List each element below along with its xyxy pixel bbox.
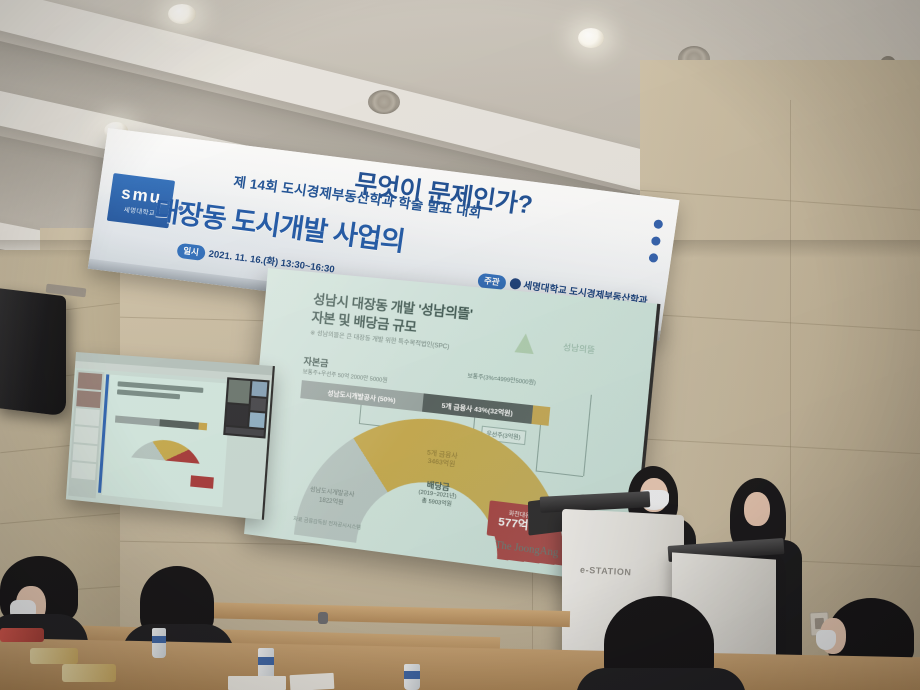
preview-bar-3	[198, 423, 207, 431]
presenter-2-face	[744, 492, 770, 526]
ceiling-vent-icon	[368, 90, 400, 114]
downlight-icon	[168, 4, 196, 24]
slide-thumbnail[interactable]	[73, 444, 98, 462]
snack-item	[62, 664, 116, 682]
video-tile[interactable]	[250, 398, 266, 412]
video-tile-presenter[interactable]	[228, 379, 251, 403]
wall-speaker-icon	[0, 288, 66, 417]
downlight-icon	[578, 28, 604, 48]
pen	[318, 612, 328, 624]
current-slide-preview	[102, 375, 231, 508]
sejong-emblem-icon	[509, 278, 521, 290]
slide-thumbnail[interactable]	[77, 372, 102, 390]
snack-item	[0, 628, 44, 642]
banner-meta-pill: 일시	[176, 242, 206, 260]
handout-paper	[228, 676, 286, 690]
video-tile[interactable]	[249, 412, 265, 428]
preview-subtitle-bar	[117, 389, 180, 399]
snack-item	[30, 648, 78, 664]
audience-body	[576, 668, 746, 690]
video-toolbar[interactable]	[225, 427, 263, 436]
projection-screen-presenter-view	[66, 352, 275, 520]
slide-thumbnail[interactable]	[75, 408, 100, 426]
slide-thumbnail[interactable]	[71, 462, 96, 480]
slide-thumbnail[interactable]	[76, 390, 101, 408]
preview-bar-1	[115, 415, 160, 426]
lecture-hall-photo: 제 14회 도시경제부동산학과 학술 발표 대회 무엇이 문제인가? smu 세…	[0, 0, 920, 690]
slide-thumbnail[interactable]	[74, 426, 99, 444]
drink-cup	[152, 628, 166, 658]
preview-red-badge	[190, 475, 214, 488]
video-tile[interactable]	[251, 381, 267, 397]
video-tile[interactable]	[226, 404, 249, 426]
handout-paper	[290, 673, 335, 690]
face-mask-icon	[816, 630, 836, 650]
video-conference-panel	[223, 377, 269, 438]
preview-bar-2	[159, 419, 199, 429]
drink-cup	[404, 664, 420, 690]
